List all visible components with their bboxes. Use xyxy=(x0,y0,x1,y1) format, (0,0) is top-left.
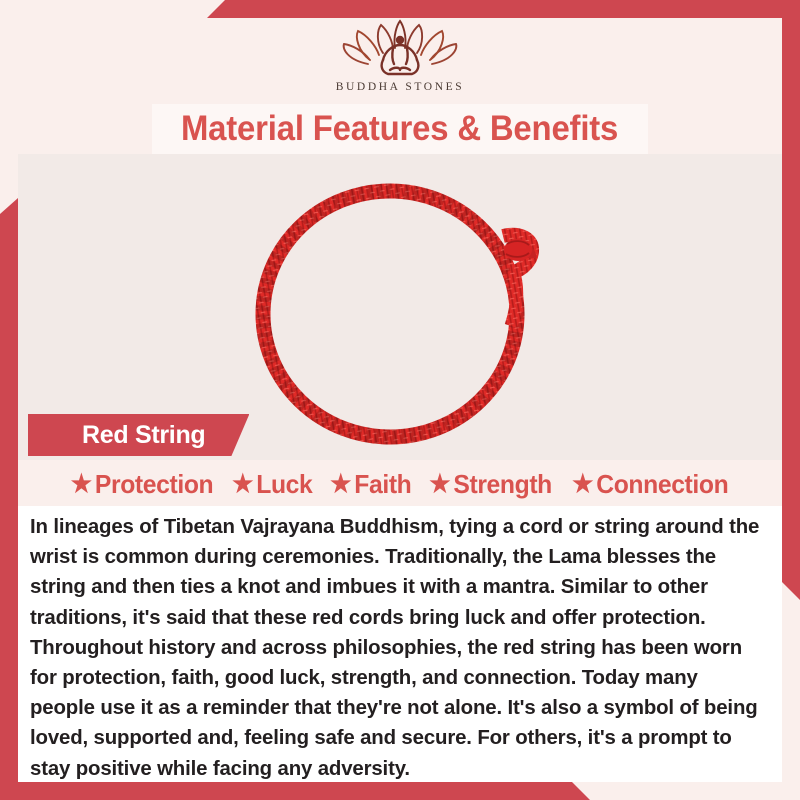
description-text: In lineages of Tibetan Vajrayana Buddhis… xyxy=(30,512,760,784)
benefit-item-strength: ★ Strength xyxy=(429,469,552,500)
star-icon: ★ xyxy=(232,472,253,497)
decoration-bottom-bar xyxy=(0,782,800,800)
star-icon: ★ xyxy=(429,472,450,497)
benefit-label: Connection xyxy=(597,469,729,500)
benefit-item-protection: ★ Protection xyxy=(71,469,214,500)
brand-logo: BUDDHA STONES xyxy=(0,18,800,104)
lotus-meditation-icon xyxy=(338,18,462,80)
red-braided-string-bracelet-illustration xyxy=(235,154,565,460)
benefit-item-luck: ★ Luck xyxy=(232,469,312,500)
benefit-item-faith: ★ Faith xyxy=(330,469,411,500)
benefit-label: Protection xyxy=(95,469,213,500)
benefit-item-connection: ★ Connection xyxy=(572,469,728,500)
benefit-label: Faith xyxy=(354,469,411,500)
product-ribbon: Red String xyxy=(28,414,249,456)
infographic-page: BUDDHA STONES Material Features & Benefi… xyxy=(0,0,800,800)
star-icon: ★ xyxy=(330,472,351,497)
brand-name: BUDDHA STONES xyxy=(336,81,464,93)
benefit-label: Strength xyxy=(454,469,553,500)
benefit-label: Luck xyxy=(256,469,312,500)
decoration-left-stripe xyxy=(0,198,18,800)
product-ribbon-label: Red String xyxy=(82,421,205,450)
page-title: Material Features & Benefits xyxy=(181,109,618,149)
star-icon: ★ xyxy=(572,472,593,497)
title-banner: Material Features & Benefits xyxy=(152,104,648,154)
benefits-list: ★ Protection ★ Luck ★ Faith ★ Strength ★… xyxy=(18,462,782,506)
star-icon: ★ xyxy=(71,472,92,497)
description-panel: In lineages of Tibetan Vajrayana Buddhis… xyxy=(18,506,782,782)
decoration-top-bar xyxy=(0,0,800,18)
